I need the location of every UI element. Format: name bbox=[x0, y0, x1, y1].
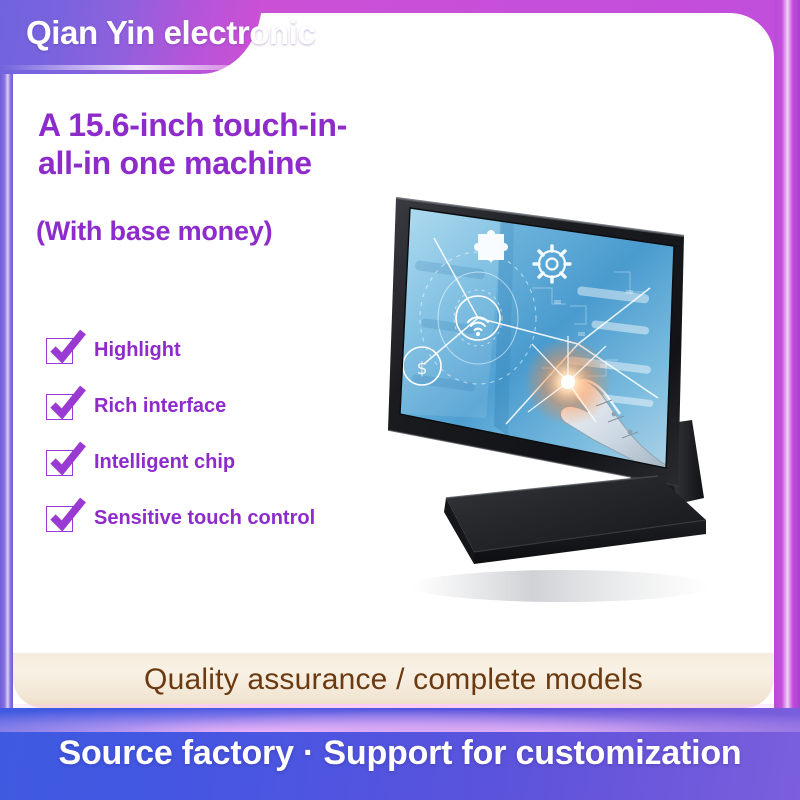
page-subtitle: (With base money) bbox=[36, 216, 272, 247]
list-item: Intelligent chip bbox=[46, 448, 376, 504]
frame-top-border bbox=[248, 0, 774, 13]
check-icon bbox=[48, 329, 88, 367]
list-item-label: Highlight bbox=[94, 339, 181, 362]
footer-glow bbox=[0, 708, 800, 732]
frame-right-border bbox=[774, 0, 800, 740]
brand-banner: Qian Yin electronic bbox=[0, 0, 262, 74]
check-icon bbox=[48, 497, 88, 535]
list-item: Highlight bbox=[46, 336, 376, 392]
frame-top-right-corner bbox=[248, 13, 774, 57]
promo-poster: Qian Yin electronic A 15.6-inch touch-in… bbox=[0, 0, 800, 800]
list-item-label: Rich interface bbox=[94, 395, 226, 418]
brand-title: Qian Yin electronic bbox=[26, 14, 316, 52]
frame-left-border bbox=[0, 68, 13, 728]
quality-ribbon: Quality assurance / complete models bbox=[13, 652, 774, 708]
banner-sheen bbox=[0, 65, 250, 70]
floor-shadow bbox=[412, 570, 712, 602]
check-icon bbox=[48, 441, 88, 479]
product-image: $ bbox=[382, 168, 732, 638]
check-icon bbox=[48, 385, 88, 423]
list-item-label: Sensitive touch control bbox=[94, 507, 315, 530]
list-item: Rich interface bbox=[46, 392, 376, 448]
quality-ribbon-text: Quality assurance / complete models bbox=[144, 663, 643, 697]
monitor-illustration: $ bbox=[382, 168, 732, 638]
footer-bar: Source factory · Support for customizati… bbox=[0, 708, 800, 800]
list-item: Sensitive touch control bbox=[46, 504, 376, 560]
page-title: A 15.6-inch touch-in-all-in one machine bbox=[38, 106, 388, 183]
feature-list: Highlight Rich interface Intelligent chi… bbox=[46, 336, 376, 560]
list-item-label: Intelligent chip bbox=[94, 451, 235, 474]
footer-text: Source factory · Support for customizati… bbox=[0, 734, 800, 773]
